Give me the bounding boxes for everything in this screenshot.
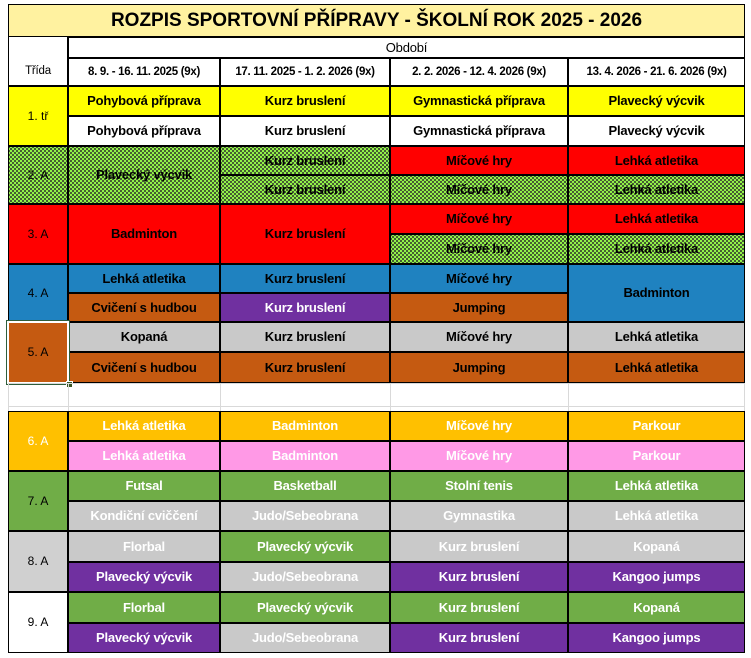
activity-cell[interactable]: Florbal [68, 531, 220, 562]
activity-cell[interactable]: Kurz bruslení [390, 531, 568, 562]
header-period-col-4: 13. 4. 2026 - 21. 6. 2026 (9x) [568, 58, 745, 86]
activity-cell[interactable]: Gymnastika [390, 501, 568, 531]
activity-cell[interactable]: Míčové hry [390, 234, 568, 264]
activity-cell[interactable]: Basketball [220, 471, 390, 501]
header-period-col-3: 2. 2. 2026 - 12. 4. 2026 (9x) [390, 58, 568, 86]
activity-cell[interactable]: Kurz bruslení [220, 175, 390, 204]
grid-line [744, 383, 745, 411]
activity-cell[interactable]: Kurz bruslení [220, 116, 390, 146]
activity-cell[interactable]: Lehká atletika [68, 264, 220, 293]
activity-cell[interactable]: Míčové hry [390, 264, 568, 293]
activity-cell[interactable]: Gymnastická příprava [390, 86, 568, 116]
grid-line [8, 406, 745, 407]
activity-cell[interactable]: Judo/Sebeobrana [220, 562, 390, 592]
class-label-8a: 8. A [8, 531, 68, 592]
activity-cell[interactable]: Lehká atletika [568, 204, 745, 234]
activity-cell[interactable]: Lehká atletika [568, 471, 745, 501]
grid-line [68, 383, 69, 411]
header-corner-blank [8, 37, 68, 58]
class-label-6a: 6. A [8, 411, 68, 471]
activity-cell[interactable]: Lehká atletika [568, 352, 745, 383]
activity-cell[interactable]: Parkour [568, 411, 745, 441]
activity-cell[interactable]: Jumping [390, 293, 568, 322]
activity-cell[interactable]: Kangoo jumps [568, 562, 745, 592]
activity-cell[interactable]: Lehká atletika [568, 322, 745, 352]
activity-cell[interactable]: Gymnastická příprava [390, 116, 568, 146]
activity-cell[interactable]: Lehká atletika [68, 441, 220, 471]
activity-cell[interactable]: Kurz bruslení [220, 264, 390, 293]
activity-cell[interactable]: Plavecký výcvik [568, 86, 745, 116]
grid-line [220, 383, 221, 411]
activity-cell[interactable]: Kopaná [568, 531, 745, 562]
activity-cell[interactable]: Kangoo jumps [568, 623, 745, 653]
activity-cell[interactable]: Kurz bruslení [220, 322, 390, 352]
activity-cell[interactable]: Míčové hry [390, 441, 568, 471]
header-period-label: Období [68, 37, 745, 58]
activity-cell[interactable]: Míčové hry [390, 411, 568, 441]
activity-cell[interactable]: Míčové hry [390, 204, 568, 234]
class-label-3a: 3. A [8, 204, 68, 264]
activity-cell[interactable]: Míčové hry [390, 146, 568, 175]
activity-cell[interactable]: Lehká atletika [568, 234, 745, 264]
activity-cell[interactable]: Judo/Sebeobrana [220, 623, 390, 653]
activity-cell[interactable]: Lehká atletika [568, 146, 745, 175]
activity-cell[interactable]: Míčové hry [390, 322, 568, 352]
activity-cell[interactable]: Plavecký výcvik [220, 592, 390, 623]
activity-cell[interactable]: Cvičení s hudbou [68, 293, 220, 322]
activity-cell[interactable]: Plavecký výcvik [68, 623, 220, 653]
activity-cell[interactable]: Kurz bruslení [390, 562, 568, 592]
activity-cell[interactable]: Lehká atletika [568, 501, 745, 531]
activity-cell-merged[interactable]: Badminton [68, 204, 220, 264]
grid-line [568, 383, 569, 411]
activity-cell[interactable]: Futsal [68, 471, 220, 501]
activity-cell[interactable]: Kopaná [68, 322, 220, 352]
activity-cell[interactable]: Cvičení s hudbou [68, 352, 220, 383]
grid-line [8, 383, 9, 411]
activity-cell[interactable]: Kopaná [568, 592, 745, 623]
activity-cell[interactable]: Parkour [568, 441, 745, 471]
activity-cell[interactable]: Kurz bruslení [390, 623, 568, 653]
class-label-2a: 2. A [8, 146, 68, 204]
page-title: ROZPIS SPORTOVNÍ PŘÍPRAVY - ŠKOLNÍ ROK 2… [8, 4, 745, 37]
activity-cell-merged[interactable]: Kurz bruslení [220, 204, 390, 264]
activity-cell[interactable]: Plavecký výcvik [220, 531, 390, 562]
activity-cell[interactable]: Míčové hry [390, 175, 568, 204]
grid-line [390, 383, 391, 411]
activity-cell[interactable]: Badminton [220, 411, 390, 441]
class-label-1tr: 1. tř [8, 86, 68, 146]
activity-cell[interactable]: Pohybová příprava [68, 116, 220, 146]
class-label-7a: 7. A [8, 471, 68, 531]
activity-cell[interactable]: Kurz bruslení [220, 146, 390, 175]
class-label-4a: 4. A [8, 264, 68, 322]
class-label-5a[interactable]: 5. A [8, 322, 68, 383]
activity-cell[interactable]: Kurz bruslení [220, 352, 390, 383]
spreadsheet-canvas: ROZPIS SPORTOVNÍ PŘÍPRAVY - ŠKOLNÍ ROK 2… [0, 0, 751, 658]
header-period-col-1: 8. 9. - 16. 11. 2025 (9x) [68, 58, 220, 86]
activity-cell[interactable]: Judo/Sebeobrana [220, 501, 390, 531]
activity-cell[interactable]: Kondiční cviččení [68, 501, 220, 531]
activity-cell[interactable]: Jumping [390, 352, 568, 383]
grid-line [8, 383, 745, 384]
activity-cell[interactable]: Lehká atletika [568, 175, 745, 204]
activity-cell-merged[interactable]: Badminton [568, 264, 745, 322]
activity-cell[interactable]: Lehká atletika [68, 411, 220, 441]
activity-cell-merged[interactable]: Plavecký výcvik [68, 146, 220, 204]
header-class-label: Třída [8, 58, 68, 86]
activity-cell[interactable]: Kurz bruslení [220, 86, 390, 116]
activity-cell[interactable]: Pohybová příprava [68, 86, 220, 116]
activity-cell[interactable]: Badminton [220, 441, 390, 471]
activity-cell[interactable]: Stolní tenis [390, 471, 568, 501]
activity-cell[interactable]: Florbal [68, 592, 220, 623]
activity-cell[interactable]: Kurz bruslení [390, 592, 568, 623]
activity-cell[interactable]: Kurz bruslení [220, 293, 390, 322]
header-period-col-2: 17. 11. 2025 - 1. 2. 2026 (9x) [220, 58, 390, 86]
activity-cell[interactable]: Plavecký výcvik [68, 562, 220, 592]
class-label-9a: 9. A [8, 592, 68, 653]
activity-cell[interactable]: Plavecký výcvik [568, 116, 745, 146]
